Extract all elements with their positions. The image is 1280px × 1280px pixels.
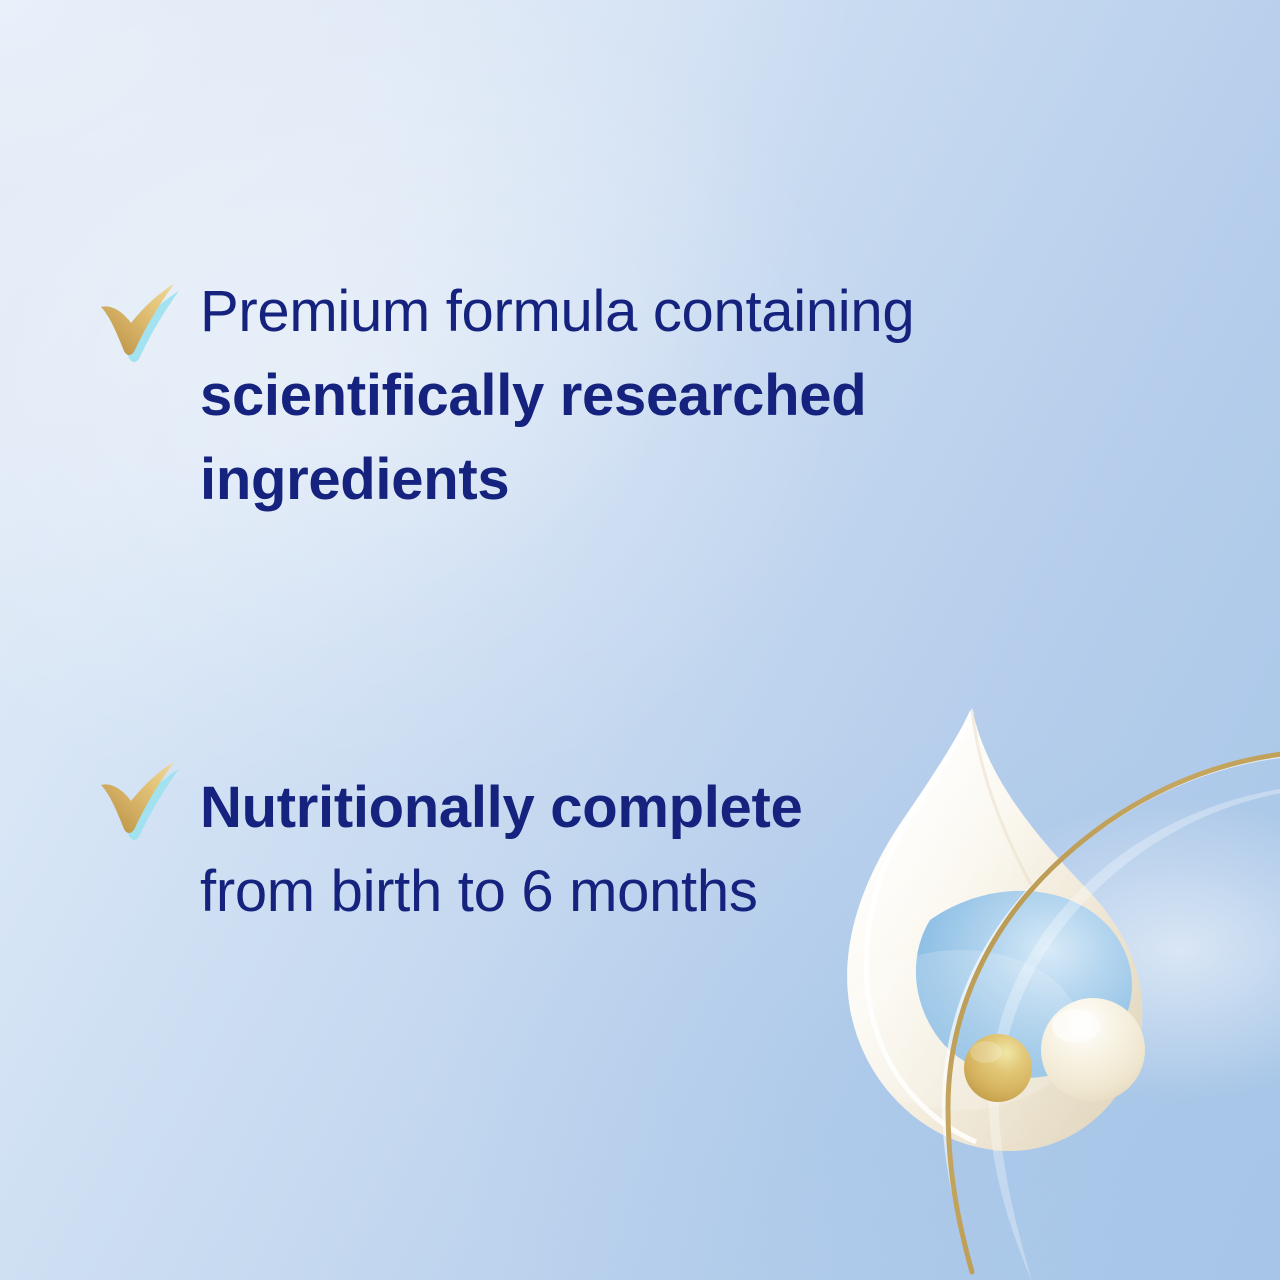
gold-checkmark-icon bbox=[96, 280, 188, 364]
benefits-list: Premium formula containing scientificall… bbox=[96, 270, 1096, 934]
promo-banner: Premium formula containing scientificall… bbox=[0, 0, 1280, 1280]
benefit-1-line-3: ingredients bbox=[200, 438, 1096, 522]
benefit-item-1: Premium formula containing scientificall… bbox=[96, 270, 1096, 522]
benefit-1-line-2: scientifically researched bbox=[200, 354, 1096, 438]
cream-sphere bbox=[1041, 998, 1145, 1102]
gold-sphere bbox=[964, 1034, 1032, 1102]
gold-checkmark-icon bbox=[96, 758, 188, 842]
benefit-1-line-1: Premium formula containing bbox=[200, 270, 1096, 354]
benefit-2-line-1: Nutritionally complete bbox=[200, 766, 1096, 850]
benefit-2-line-2: from birth to 6 months bbox=[200, 850, 1096, 934]
benefit-item-2: Nutritionally complete from birth to 6 m… bbox=[96, 766, 1096, 934]
